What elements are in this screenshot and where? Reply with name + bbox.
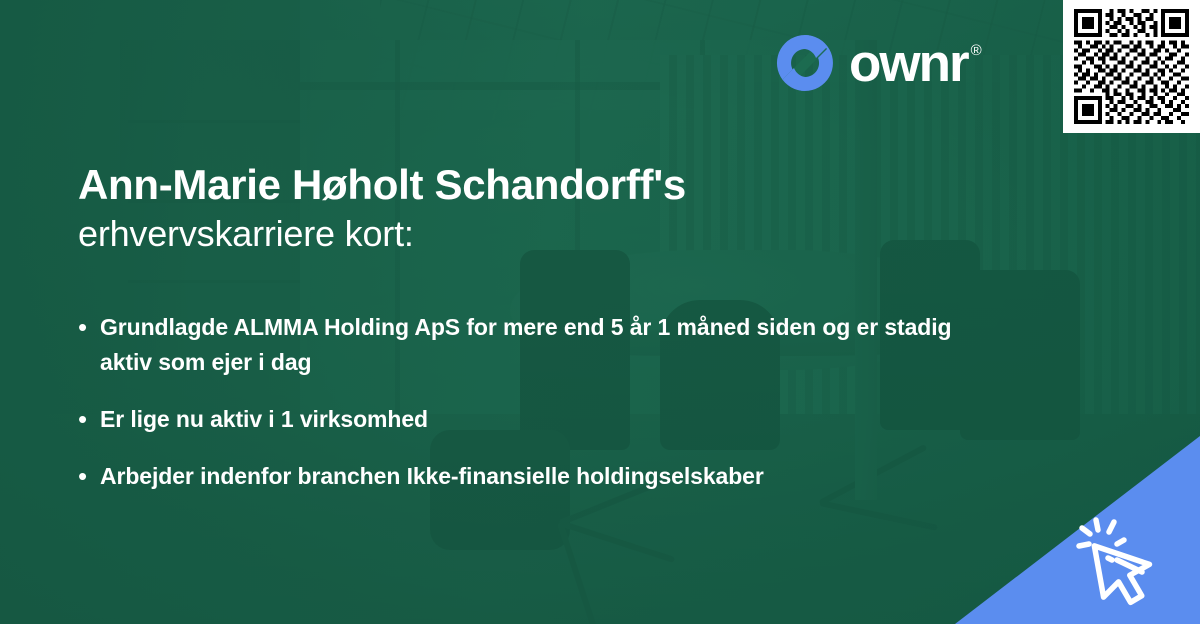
brand-wordmark: ownr ® (849, 37, 982, 90)
career-summary-card: ownr ® (0, 0, 1200, 624)
bullet-icon: • (78, 310, 100, 344)
qr-code-icon (1072, 9, 1191, 124)
registered-trademark-icon: ® (971, 43, 982, 58)
list-item: • Arbejder indenfor branchen Ikke-finans… (78, 459, 978, 494)
ownr-swirl-logo-icon (775, 33, 835, 93)
headline-main: Ann-Marie Høholt Schandorff's (78, 160, 978, 210)
qr-code-panel[interactable] (1063, 0, 1200, 133)
brand-lockup[interactable]: ownr ® (775, 33, 982, 93)
fact-text: Er lige nu aktiv i 1 virksomhed (100, 402, 428, 437)
list-item: • Er lige nu aktiv i 1 virksomhed (78, 402, 978, 437)
career-facts-list: • Grundlagde ALMMA Holding ApS for mere … (78, 310, 978, 516)
list-item: • Grundlagde ALMMA Holding ApS for mere … (78, 310, 978, 380)
bullet-icon: • (78, 402, 100, 436)
fact-text: Arbejder indenfor branchen Ikke-finansie… (100, 459, 764, 494)
fact-text: Grundlagde ALMMA Holding ApS for mere en… (100, 310, 978, 380)
headline-subtitle: erhvervskarriere kort: (78, 210, 978, 259)
bullet-icon: • (78, 459, 100, 493)
page-title: Ann-Marie Høholt Schandorff's erhvervska… (78, 160, 978, 258)
card-content: ownr ® (0, 0, 1200, 624)
click-cursor-icon (1076, 508, 1184, 612)
brand-name: ownr (849, 37, 968, 90)
